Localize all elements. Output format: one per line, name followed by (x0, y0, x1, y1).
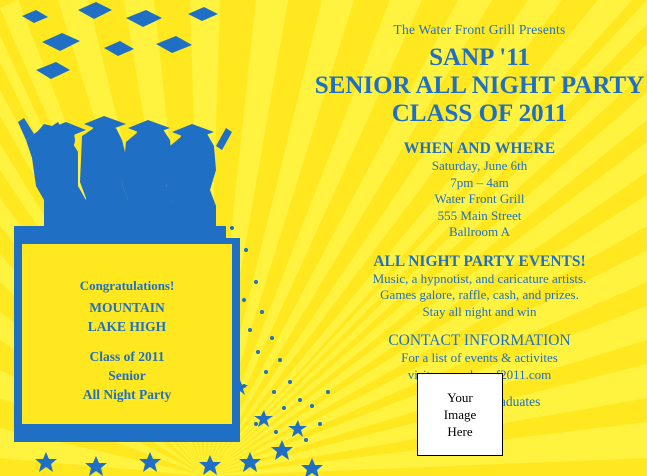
congrats-line-4: Class of 2011 (22, 347, 232, 366)
invitation-card: Congratulations! MOUNTAIN LAKE HIGH Clas… (0, 0, 647, 476)
event-details-column: The Water Front Grill Presents SANP '11 … (312, 0, 647, 476)
event-title-main: SENIOR ALL NIGHT PARTY (312, 72, 647, 100)
congrats-line-1: Congratulations! (22, 276, 232, 295)
events-line-3: Stay all night and win (312, 304, 647, 321)
contact-heading: CONTACT INFORMATION (312, 332, 647, 350)
congrats-line-6: All Night Party (22, 385, 232, 404)
congrats-line-5: Senior (22, 366, 232, 385)
when-where-time: 7pm – 4am (312, 175, 647, 192)
event-title-class: CLASS OF 2011 (312, 100, 647, 128)
when-where-room: Ballroom A (312, 224, 647, 241)
presenter-line: The Water Front Grill Presents (312, 22, 647, 38)
when-where-date: Saturday, June 6th (312, 158, 647, 175)
congrats-line-3: LAKE HIGH (22, 317, 232, 336)
image-placeholder-line-1: Your (418, 389, 502, 406)
image-placeholder-line-2: Image (418, 406, 502, 423)
events-heading: ALL NIGHT PARTY EVENTS! (312, 253, 647, 271)
congrats-line-2: MOUNTAIN (22, 298, 232, 317)
when-where-venue: Water Front Grill (312, 191, 647, 208)
when-where-street: 555 Main Street (312, 208, 647, 225)
event-title-short: SANP '11 (312, 44, 647, 72)
contact-line-1: For a list of events & activites (312, 350, 647, 367)
when-where-heading: WHEN AND WHERE (312, 140, 647, 158)
events-line-2: Games galore, raffle, cash, and prizes. (312, 287, 647, 304)
events-line-1: Music, a hypnotist, and caricature artis… (312, 271, 647, 288)
image-placeholder-line-3: Here (418, 423, 502, 440)
congratulations-box: Congratulations! MOUNTAIN LAKE HIGH Clas… (18, 240, 236, 428)
image-placeholder[interactable]: Your Image Here (417, 373, 503, 456)
